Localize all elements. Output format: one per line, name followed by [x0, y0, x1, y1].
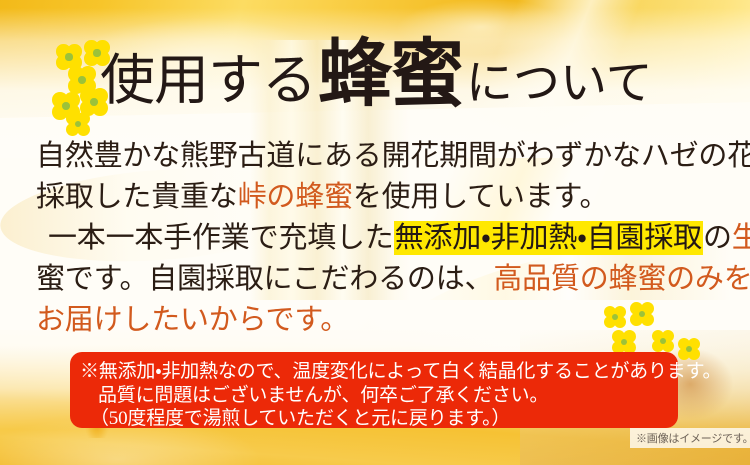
promo-banner: 使用する 蜂蜜 について 自然豊かな熊野古道にある開花期間がわずかなハゼの花から… — [0, 0, 750, 465]
body-copy: 自然豊かな熊野古道にある開花期間がわずかなハゼの花から 採取した貴重な峠の蜂蜜を… — [36, 136, 726, 341]
body-line-5: お届けしたいからです。 — [36, 300, 726, 341]
body-line-3: 一本一本手作業で充填した無添加・非加熱・自園採取の生蜂 — [36, 218, 726, 259]
page-title-keyword: 蜂蜜 — [318, 38, 462, 112]
flower-icon — [66, 112, 90, 136]
body-line-2-part-a: 採取した貴重な — [36, 181, 238, 213]
flower-center — [90, 98, 98, 106]
body-line-1-text: 自然豊かな熊野古道にある開花期間がわずかなハゼの花から — [36, 140, 750, 172]
body-line-4-accent: 高品質の蜂蜜のみを直接 — [493, 263, 750, 295]
body-line-2-accent: 峠の蜂蜜 — [238, 181, 353, 213]
body-line-3-part-c: の — [703, 222, 732, 254]
page-title-suffix: について — [466, 61, 653, 108]
flower-center — [78, 76, 86, 84]
body-line-2-part-c: を使用しています。 — [353, 181, 608, 213]
body-line-1: 自然豊かな熊野古道にある開花期間がわずかなハゼの花から — [36, 136, 726, 177]
flower-center — [62, 102, 70, 110]
body-line-3-accent: 生蜂 — [732, 222, 750, 254]
body-line-4: 蜜です。自園採取にこだわるのは、高品質の蜂蜜のみを直接 — [36, 259, 726, 300]
flower-icon — [678, 338, 700, 360]
page-title-prefix: 使用する — [100, 53, 316, 108]
flower-center — [686, 346, 692, 352]
notice-line-1: ※無添加・非加熱なので、温度変化によって白く結晶化することがあります。 — [80, 360, 678, 384]
flower-center — [65, 53, 72, 60]
body-line-5-accent: お届けしたいからです。 — [36, 304, 349, 336]
page-title: 使用する 蜂蜜 について — [100, 38, 700, 124]
notice-line-3: （50度程度で湯煎していただくと元に戻ります。） — [80, 407, 678, 431]
photo-disclaimer: ※画像はイメージです。 — [636, 430, 750, 446]
notice-box: ※無添加・非加熱なので、温度変化によって白く結晶化することがあります。 品質に問… — [70, 352, 678, 428]
body-line-3-part-a: 一本一本手作業で充填した — [48, 222, 394, 254]
body-line-3-highlight: 無添加・非加熱・自園採取 — [394, 221, 703, 255]
body-line-4-part-a: 蜜です。自園採取にこだわるのは、 — [36, 263, 493, 295]
notice-line-2: 品質に問題はございませんが、何卒ご了承ください。 — [80, 384, 678, 408]
body-line-2: 採取した貴重な峠の蜂蜜を使用しています。 — [36, 177, 726, 218]
